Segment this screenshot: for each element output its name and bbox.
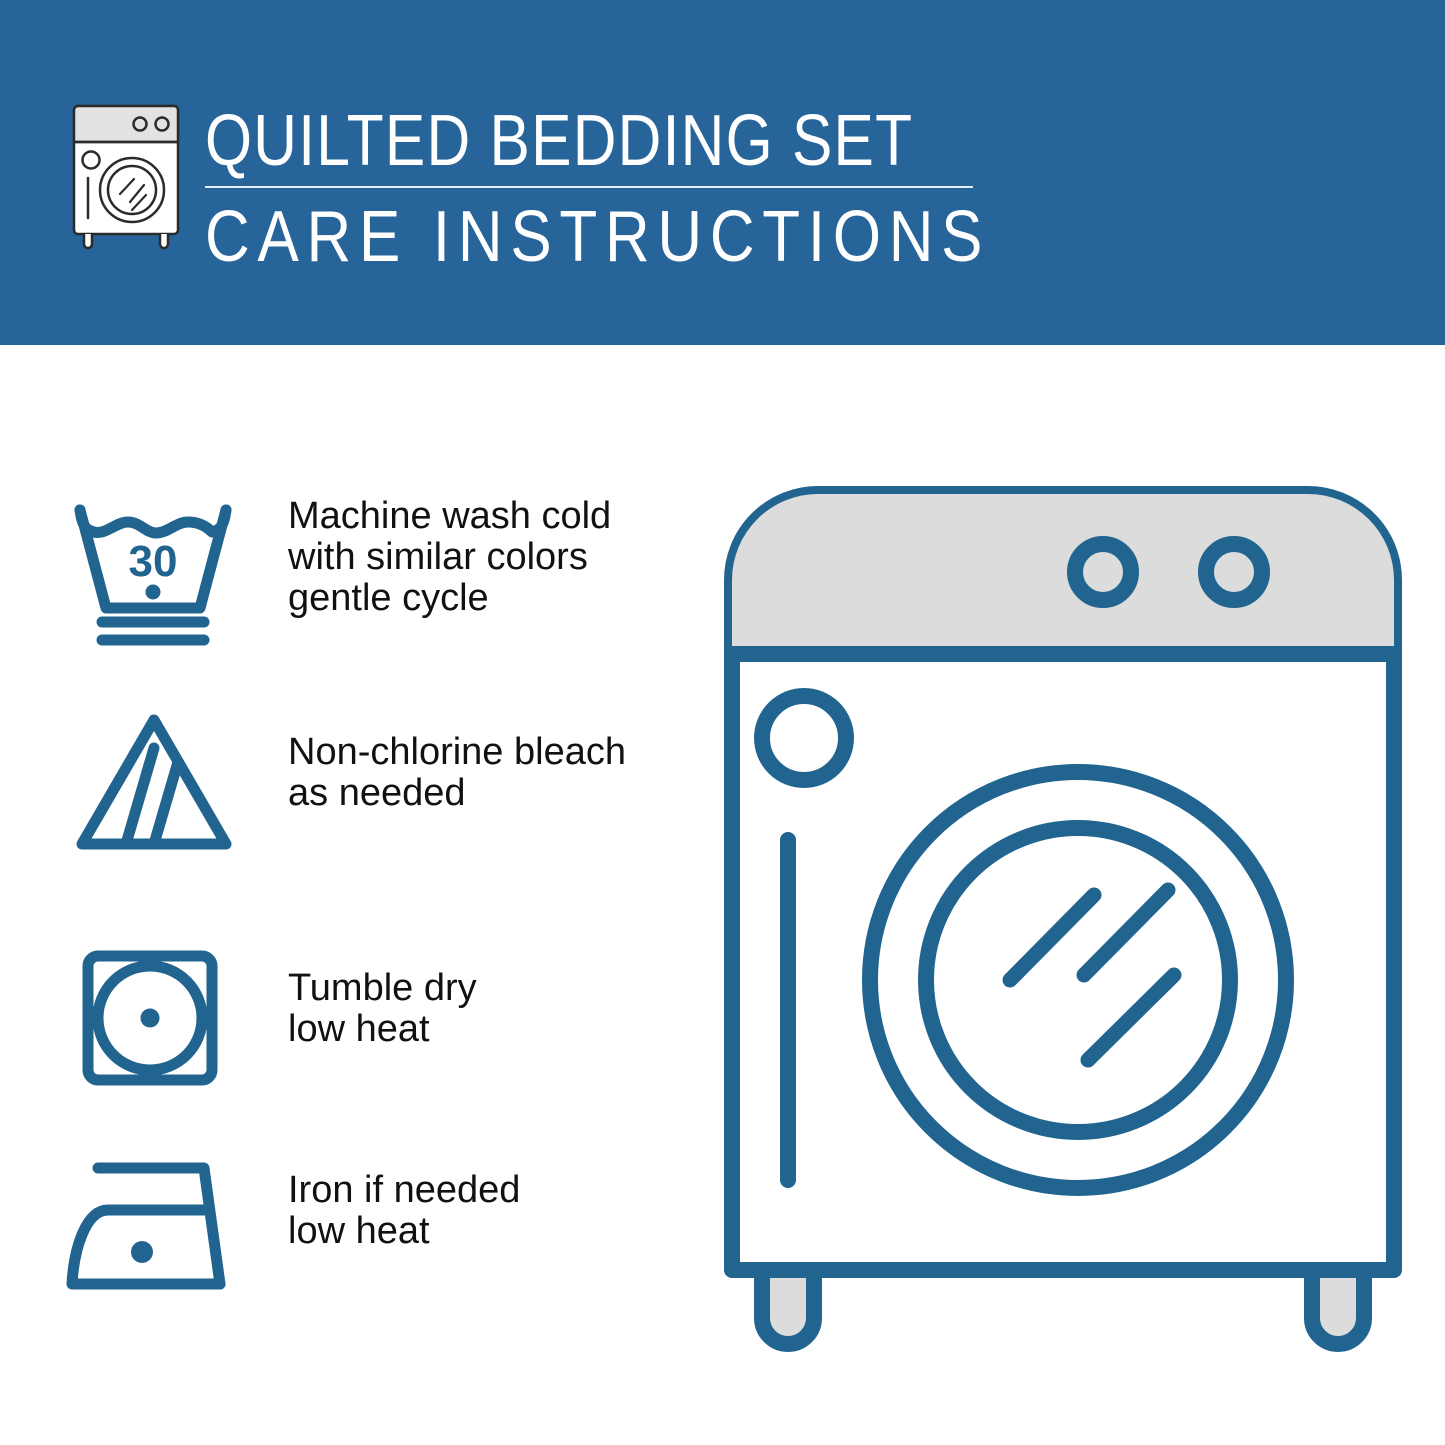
care-label-bleach: Non-chlorine bleach as needed bbox=[288, 732, 688, 814]
iron-low-heat-icon bbox=[64, 1148, 244, 1296]
header-title-block: QUILTED BEDDING SET CARE INSTRUCTIONS bbox=[205, 100, 995, 276]
front-load-washing-machine-illustration bbox=[718, 480, 1408, 1370]
care-label-machine-wash: Machine wash cold with similar colors ge… bbox=[288, 496, 688, 619]
care-label-iron: Iron if needed low heat bbox=[288, 1170, 688, 1252]
detergent-dispenser-circle bbox=[762, 696, 846, 780]
care-label-line: Non-chlorine bleach bbox=[288, 732, 688, 773]
tumble-dry-low-heat-icon bbox=[80, 948, 220, 1088]
care-label-line: Iron if needed bbox=[288, 1170, 688, 1211]
care-label-line: as needed bbox=[288, 773, 688, 814]
care-label-line: Machine wash cold bbox=[288, 496, 688, 537]
care-label-tumble-dry: Tumble dry low heat bbox=[288, 968, 688, 1050]
machine-leg bbox=[762, 1270, 814, 1344]
control-panel bbox=[732, 494, 1394, 654]
triangle-non-chlorine-bleach-icon bbox=[70, 712, 238, 852]
care-label-line: Tumble dry bbox=[288, 968, 688, 1009]
wash-temperature-label: 30 bbox=[129, 537, 178, 586]
door-inner-ring bbox=[926, 828, 1230, 1132]
care-label-line: low heat bbox=[288, 1211, 688, 1252]
page-subtitle: CARE INSTRUCTIONS bbox=[205, 198, 884, 276]
header-band: QUILTED BEDDING SET CARE INSTRUCTIONS bbox=[0, 0, 1445, 345]
care-label-line: with similar colors bbox=[288, 537, 688, 578]
control-knob bbox=[1075, 544, 1131, 600]
care-instructions-infographic: QUILTED BEDDING SET CARE INSTRUCTIONS 30 bbox=[0, 0, 1445, 1445]
machine-leg bbox=[1312, 1270, 1364, 1344]
washing-machine-icon bbox=[62, 98, 190, 250]
care-label-line: low heat bbox=[288, 1009, 688, 1050]
title-divider bbox=[205, 186, 973, 188]
control-knob bbox=[1206, 544, 1262, 600]
page-title: QUILTED BEDDING SET bbox=[205, 100, 869, 182]
wash-tub-30-gentle-icon: 30 bbox=[72, 500, 234, 648]
care-label-line: gentle cycle bbox=[288, 578, 688, 619]
